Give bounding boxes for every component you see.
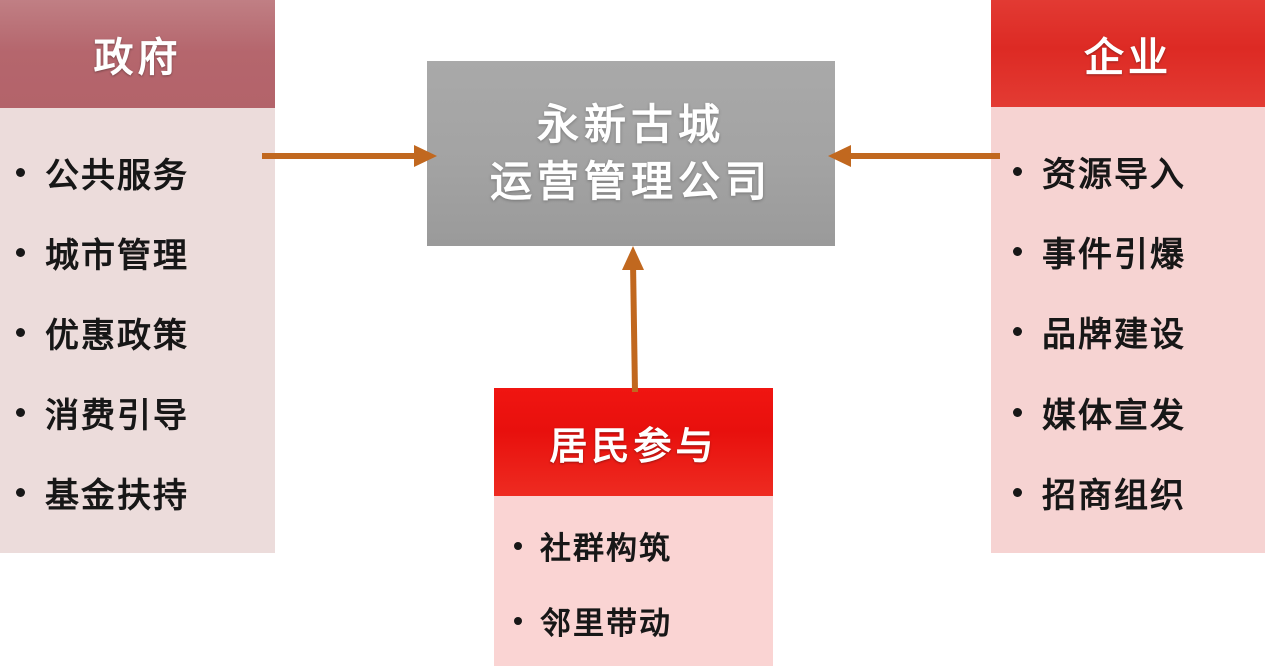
list-item: 资源导入 [991,147,1265,196]
bullet-icon [16,488,25,497]
enterprise-body: 资源导入 事件引爆 品牌建设 媒体宣发 招商组织 [991,107,1265,553]
residents-item-label: 社群构筑 [540,523,672,568]
list-item: 品牌建设 [991,307,1265,356]
enterprise-header: 企业 [991,0,1265,107]
bullet-icon [514,617,522,625]
list-item: 基金扶持 [0,468,275,517]
residents-panel: 居民参与 社群构筑 邻里带动 [494,388,773,666]
residents-header-label: 居民参与 [549,415,717,470]
enterprise-panel: 企业 资源导入 事件引爆 品牌建设 媒体宣发 招商组织 [991,0,1265,553]
bullet-icon [1013,327,1022,336]
enterprise-item-label: 招商组织 [1042,468,1186,517]
list-item: 公共服务 [0,148,275,197]
enterprise-header-label: 企业 [1084,25,1172,83]
government-body: 公共服务 城市管理 优惠政策 消费引导 基金扶持 [0,108,275,553]
residents-item-label: 邻里带动 [540,598,672,643]
government-item-label: 优惠政策 [45,308,189,357]
bullet-icon [514,542,522,550]
government-header-label: 政府 [94,25,182,83]
arrow-residents-to-center-icon [610,240,660,392]
government-header: 政府 [0,0,275,108]
list-item: 事件引爆 [991,227,1265,276]
bullet-icon [16,168,25,177]
bullet-icon [16,248,25,257]
center-entity-line-1: 永新古城 [537,97,725,154]
bullet-icon [1013,167,1022,176]
enterprise-item-label: 事件引爆 [1042,227,1186,276]
enterprise-item-label: 资源导入 [1042,147,1186,196]
arrow-government-to-center-icon [262,138,437,174]
bullet-icon [1013,408,1022,417]
bullet-icon [16,408,25,417]
government-item-label: 消费引导 [45,388,189,437]
list-item: 城市管理 [0,228,275,277]
enterprise-item-label: 品牌建设 [1042,307,1186,356]
center-entity-line-2: 运营管理公司 [490,154,772,211]
government-item-label: 基金扶持 [45,468,189,517]
list-item: 优惠政策 [0,308,275,357]
bullet-icon [1013,488,1022,497]
center-entity-box: 永新古城 运营管理公司 [427,61,835,246]
government-item-label: 公共服务 [45,148,189,197]
government-panel: 政府 公共服务 城市管理 优惠政策 消费引导 基金扶持 [0,0,275,553]
enterprise-item-label: 媒体宣发 [1042,388,1186,437]
bullet-icon [1013,247,1022,256]
government-item-label: 城市管理 [45,228,189,277]
list-item: 招商组织 [991,468,1265,517]
arrow-enterprise-to-center-icon [828,138,1000,174]
list-item: 消费引导 [0,388,275,437]
list-item: 媒体宣发 [991,388,1265,437]
residents-header: 居民参与 [494,388,773,496]
diagram-canvas: 政府 公共服务 城市管理 优惠政策 消费引导 基金扶持 [0,0,1265,666]
list-item: 邻里带动 [494,598,773,643]
bullet-icon [16,328,25,337]
list-item: 社群构筑 [494,523,773,568]
residents-body: 社群构筑 邻里带动 [494,496,773,666]
